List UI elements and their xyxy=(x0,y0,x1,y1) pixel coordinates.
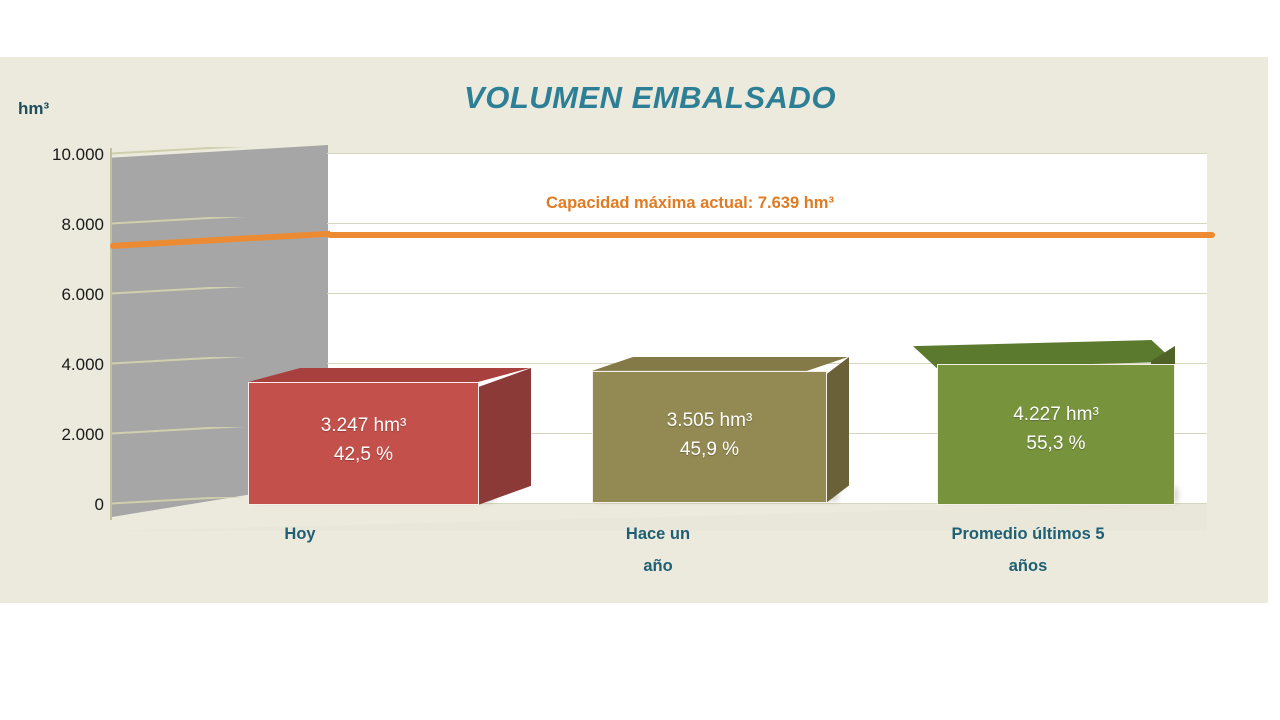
gridline-slant-6000 xyxy=(112,287,328,300)
bar-promedio-5-anos-front-face xyxy=(937,364,1175,505)
capacity-line-label: Capacidad máxima actual: 7.639 hm³ xyxy=(455,194,925,213)
gridline-10000 xyxy=(327,153,1207,154)
y-tick-0: 0 xyxy=(12,495,104,515)
bar-hoy[interactable]: 3.247 hm³ 42,5 % xyxy=(248,368,530,505)
capacity-line xyxy=(327,232,1215,238)
category-label-promedio-5-anos-line1: Promedio últimos 5 xyxy=(908,518,1148,550)
gridline-8000 xyxy=(327,223,1207,224)
y-tick-8000: 8.000 xyxy=(12,215,104,235)
bar-hace-un-ano[interactable]: 3.505 hm³ 45,9 % xyxy=(592,357,848,503)
y-axis-unit-label: hm³ xyxy=(18,99,49,119)
y-tick-4000: 4.000 xyxy=(12,355,104,375)
gridline-slant-10000 xyxy=(112,147,328,160)
category-label-hoy: Hoy xyxy=(220,518,380,550)
category-label-hace-un-ano: Hace un año xyxy=(578,518,738,582)
bar-hoy-front-face xyxy=(248,382,479,505)
chart-title: VOLUMEN EMBALSADO xyxy=(330,80,970,116)
bar-hace-un-ano-side-face xyxy=(826,357,849,503)
bar-hoy-side-face xyxy=(478,368,531,505)
y-axis-line xyxy=(110,148,112,520)
category-label-hace-un-ano-line1: Hace un xyxy=(578,518,738,550)
category-label-promedio-5-anos-line2: años xyxy=(908,550,1148,582)
gridline-6000 xyxy=(327,293,1207,294)
y-axis-tick-labels: 10.000 8.000 6.000 4.000 2.000 0 xyxy=(0,57,104,603)
category-label-hoy-line1: Hoy xyxy=(220,518,380,550)
chart-plot-region: 3.247 hm³ 42,5 % 3.505 hm³ 45,9 % 4.227 … xyxy=(0,57,1268,603)
bar-hace-un-ano-front-face xyxy=(592,371,827,503)
capacity-line-slanted-segment xyxy=(110,225,330,251)
y-tick-6000: 6.000 xyxy=(12,285,104,305)
chart-slide: 3.247 hm³ 42,5 % 3.505 hm³ 45,9 % 4.227 … xyxy=(0,0,1280,720)
category-label-promedio-5-anos: Promedio últimos 5 años xyxy=(908,518,1148,582)
category-label-hace-un-ano-line2: año xyxy=(578,550,738,582)
bar-promedio-5-anos[interactable]: 4.227 hm³ 55,3 % xyxy=(913,340,1175,505)
y-tick-2000: 2.000 xyxy=(12,425,104,445)
y-tick-10000: 10.000 xyxy=(12,145,104,165)
